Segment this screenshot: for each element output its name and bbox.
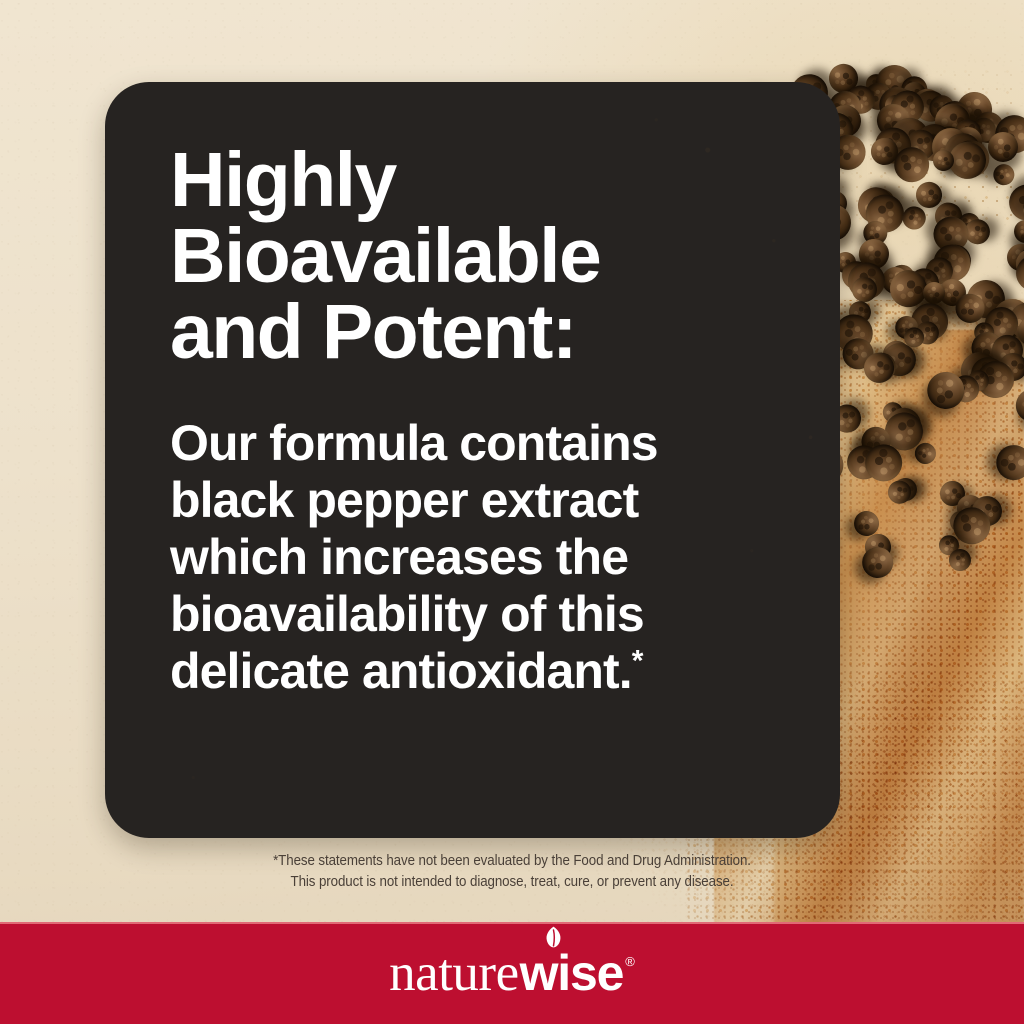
registered-trademark-symbol: ®: [625, 955, 635, 968]
leaf-icon: [545, 926, 562, 948]
footnote-asterisk: *: [632, 644, 643, 677]
page-title: Highly Bioavailable and Potent:: [170, 142, 800, 371]
card-content: Highly Bioavailable and Potent: Our form…: [170, 142, 800, 700]
content-card: Highly Bioavailable and Potent: Our form…: [105, 82, 840, 838]
logo-word-nature: nature: [389, 947, 518, 1000]
product-marketing-image: Highly Bioavailable and Potent: Our form…: [0, 0, 1024, 1024]
naturewise-logo: naturewise®: [389, 947, 635, 1000]
body-copy: Our formula contains black pepper extrac…: [170, 371, 800, 700]
logo-word-wise: wise: [520, 948, 624, 998]
fda-disclaimer: *These statements have not been evaluate…: [41, 851, 983, 892]
brand-footer: naturewise®: [0, 922, 1024, 1024]
footer-top-hairline: [0, 922, 1024, 924]
body-copy-text: Our formula contains black pepper extrac…: [170, 415, 658, 699]
